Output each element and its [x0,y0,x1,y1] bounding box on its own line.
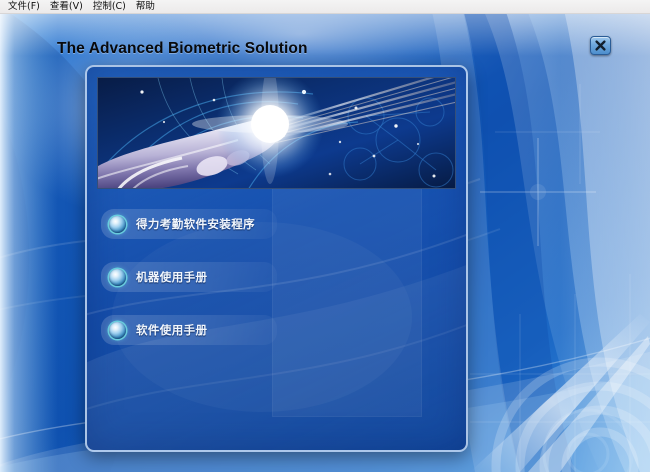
main-panel: 得力考勤软件安装程序 机器使用手册 软件使用手册 [85,65,468,452]
menu-help[interactable]: 帮助 [131,0,160,14]
close-x-icon [594,39,607,52]
fingertip-light-burst-image [98,78,456,189]
page-title: The Advanced Biometric Solution [57,40,308,58]
application-backdrop: The Advanced Biometric Solution [0,14,650,472]
orb-bullet-icon [109,216,126,233]
action-install-attendance-software[interactable]: 得力考勤软件安装程序 [101,209,277,239]
panel-inner-sheen [272,185,422,417]
action-label: 机器使用手册 [136,269,207,285]
menu-control[interactable]: 控制(C) [88,0,131,14]
action-software-manual[interactable]: 软件使用手册 [101,315,277,345]
action-device-manual[interactable]: 机器使用手册 [101,262,277,292]
menu-view[interactable]: 查看(V) [45,0,88,14]
action-label: 得力考勤软件安装程序 [136,216,255,232]
close-button[interactable] [590,36,611,55]
menu-file[interactable]: 文件(F) [3,0,45,14]
menu-bar: 文件(F) 查看(V) 控制(C) 帮助 [0,0,650,14]
action-label: 软件使用手册 [136,322,207,338]
orb-bullet-icon [109,322,126,339]
hero-banner [97,77,456,189]
orb-bullet-icon [109,269,126,286]
